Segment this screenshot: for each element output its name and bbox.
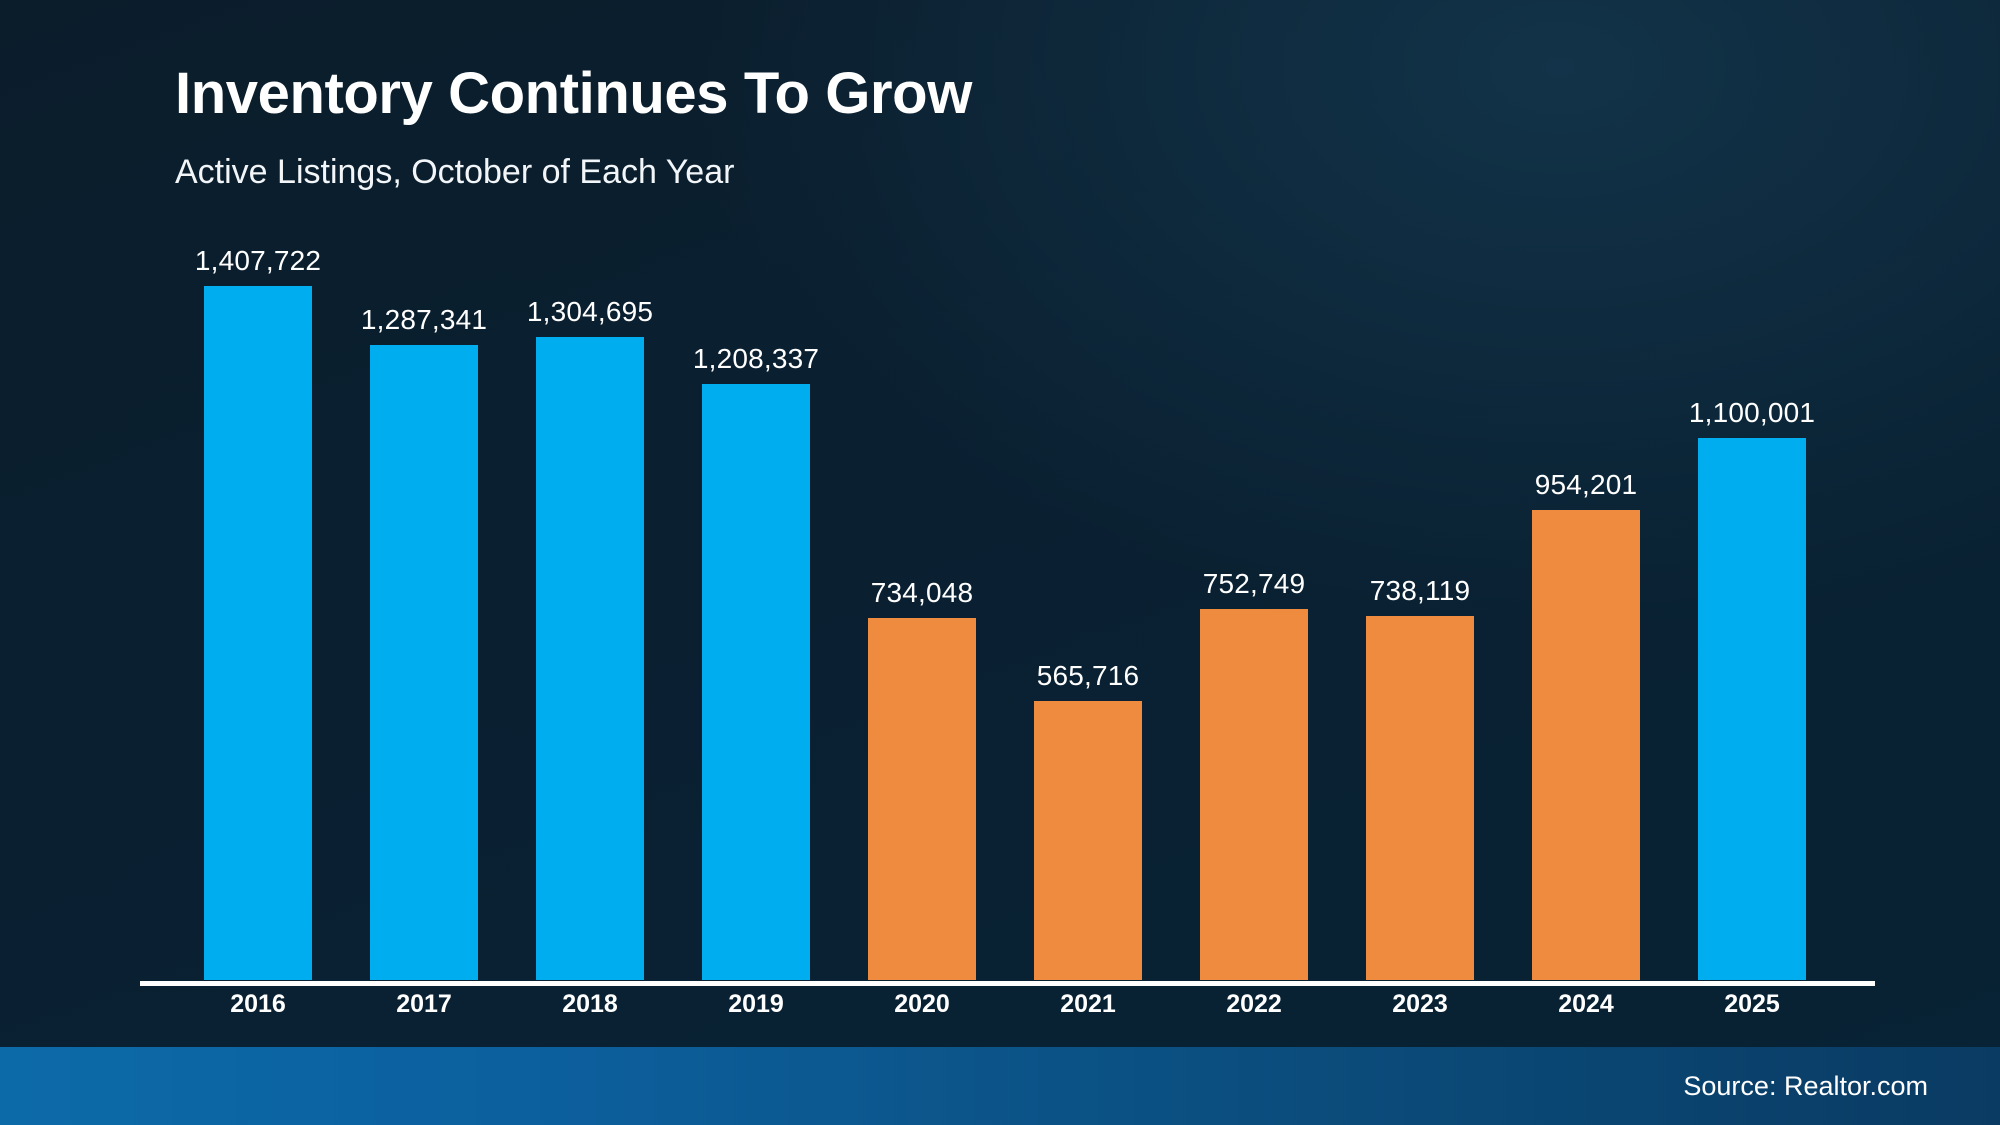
footer-bar: Source: Realtor.com [0, 1047, 2000, 1125]
bar-rect-2022[interactable] [1200, 609, 1308, 980]
x-tick-2018: 2018 [507, 990, 673, 1019]
bar-column-2016[interactable]: 1,407,722 [175, 240, 341, 980]
bar-rect-2018[interactable] [536, 337, 644, 980]
x-tick-2022: 2022 [1171, 990, 1337, 1019]
bar-value-label: 752,749 [1203, 568, 1306, 600]
page-subtitle: Active Listings, October of Each Year [175, 153, 972, 192]
x-tick-2016: 2016 [175, 990, 341, 1019]
page-title: Inventory Continues To Grow [175, 60, 972, 127]
bar-rect-2024[interactable] [1532, 510, 1640, 980]
bar-column-2024[interactable]: 954,201 [1503, 240, 1669, 980]
bar-chart: 1,407,7221,287,3411,304,6951,208,337734,… [175, 240, 1835, 980]
bar-column-2023[interactable]: 738,119 [1337, 240, 1503, 980]
bar-rect-2017[interactable] [370, 345, 478, 980]
bar-column-2019[interactable]: 1,208,337 [673, 240, 839, 980]
x-axis-tick-labels: 2016201720182019202020212022202320242025 [175, 990, 1835, 1019]
bar-column-2017[interactable]: 1,287,341 [341, 240, 507, 980]
bar-rect-2023[interactable] [1366, 616, 1474, 980]
x-tick-2017: 2017 [341, 990, 507, 1019]
x-tick-2020: 2020 [839, 990, 1005, 1019]
bar-value-label: 734,048 [871, 577, 974, 609]
slide-canvas: Inventory Continues To Grow Active Listi… [0, 0, 2000, 1125]
bar-rect-2020[interactable] [868, 618, 976, 980]
bar-column-2022[interactable]: 752,749 [1171, 240, 1337, 980]
bar-column-2021[interactable]: 565,716 [1005, 240, 1171, 980]
x-axis-line [140, 981, 1875, 986]
bar-value-label: 954,201 [1535, 469, 1638, 501]
bar-value-label: 565,716 [1037, 660, 1140, 692]
x-tick-2019: 2019 [673, 990, 839, 1019]
bar-column-2025[interactable]: 1,100,001 [1669, 240, 1835, 980]
bar-value-label: 1,304,695 [527, 296, 653, 328]
x-tick-2023: 2023 [1337, 990, 1503, 1019]
bar-series: 1,407,7221,287,3411,304,6951,208,337734,… [175, 240, 1835, 980]
bar-value-label: 1,208,337 [693, 343, 819, 375]
x-tick-2024: 2024 [1503, 990, 1669, 1019]
x-tick-2025: 2025 [1669, 990, 1835, 1019]
header-block: Inventory Continues To Grow Active Listi… [175, 60, 972, 192]
bar-rect-2016[interactable] [204, 286, 312, 980]
bar-value-label: 1,287,341 [361, 304, 487, 336]
bar-value-label: 738,119 [1370, 575, 1471, 607]
bar-rect-2019[interactable] [702, 384, 810, 980]
bar-value-label: 1,100,001 [1689, 397, 1815, 429]
bar-rect-2021[interactable] [1034, 701, 1142, 980]
bar-value-label: 1,407,722 [195, 245, 321, 277]
bar-column-2020[interactable]: 734,048 [839, 240, 1005, 980]
bar-rect-2025[interactable] [1698, 438, 1806, 980]
source-attribution: Source: Realtor.com [1683, 1071, 1928, 1102]
bar-column-2018[interactable]: 1,304,695 [507, 240, 673, 980]
x-tick-2021: 2021 [1005, 990, 1171, 1019]
